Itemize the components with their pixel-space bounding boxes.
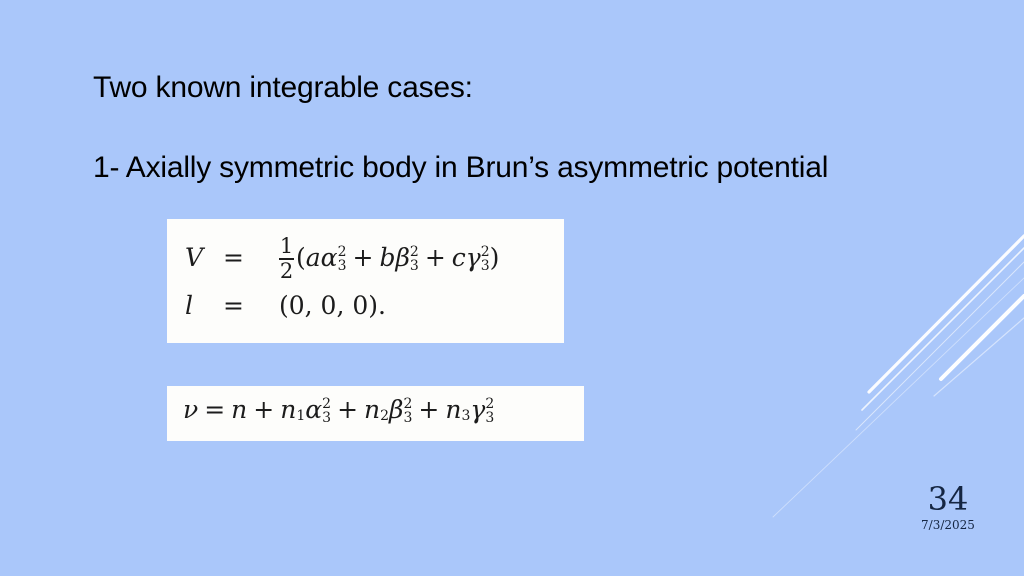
fraction-one-half: 1 2 — [279, 236, 294, 282]
variable-beta: β — [395, 243, 409, 272]
equation-row-nu: ν = n + n 1 α 2 3 + n 2 β 2 3 — [183, 395, 494, 424]
gamma-subscript-2: 3 — [485, 411, 494, 425]
alpha-subscript-2: 3 — [322, 411, 331, 425]
term-c-gamma3-squared: c γ 2 3 — [452, 243, 490, 272]
equation-lhs-l: l — [185, 291, 223, 320]
beta-sup-sub: 2 3 — [410, 245, 419, 273]
beta-superscript: 2 — [410, 245, 419, 259]
coefficient-n2-subscript: 2 — [380, 408, 389, 424]
plus-operator-nu-1: + — [247, 395, 280, 424]
gamma-sup-sub-2: 2 3 — [485, 397, 494, 425]
plus-operator-1: + — [346, 243, 379, 272]
streak-line-3 — [856, 262, 1024, 430]
plus-operator-nu-3: + — [412, 395, 445, 424]
variable-gamma-2: γ — [470, 395, 485, 424]
coefficient-a: a — [306, 243, 321, 272]
alpha-superscript-2: 2 — [322, 397, 331, 411]
integrable-case-1-label: 1- Axially symmetric body in Brun’s asym… — [93, 150, 828, 186]
gamma-superscript-2: 2 — [485, 397, 494, 411]
fraction-numerator: 1 — [280, 236, 293, 258]
streak-line-2 — [862, 248, 1024, 410]
term-b-beta3-squared: b β 2 3 — [379, 243, 418, 272]
equation-relation-l: = — [223, 291, 279, 320]
gamma-subscript: 3 — [481, 259, 490, 273]
gamma-sup-sub: 2 3 — [481, 245, 490, 273]
streak-line-6 — [934, 318, 1024, 396]
coefficient-n1-subscript: 1 — [296, 408, 305, 424]
coefficient-n1: n — [280, 395, 296, 424]
gamma-superscript: 2 — [481, 245, 490, 259]
alpha-subscript: 3 — [338, 259, 347, 273]
presentation-slide: Two known integrable cases: 1- Axially s… — [0, 0, 1024, 576]
term-n2-beta3-squared: n 2 β 2 3 — [364, 395, 412, 424]
variable-beta-2: β — [389, 395, 403, 424]
beta-sup-sub-2: 2 3 — [404, 397, 413, 425]
streak-line-1 — [869, 236, 1024, 392]
equation-lhs-nu: ν — [183, 395, 198, 424]
close-paren: ) — [490, 243, 500, 272]
fraction-denominator: 2 — [280, 260, 293, 282]
equation-rhs-V: 1 2 ( a α 2 3 + b β — [279, 235, 499, 281]
alpha-sup-sub-2: 2 3 — [322, 397, 331, 425]
equation-block-nu: ν = n + n 1 α 2 3 + n 2 β 2 3 — [167, 386, 584, 441]
term-n: n — [231, 395, 247, 424]
coefficient-c: c — [452, 243, 466, 272]
alpha-sup-sub: 2 3 — [338, 245, 347, 273]
equation-row-l: l = (0, 0, 0). — [185, 291, 386, 320]
variable-gamma: γ — [466, 243, 481, 272]
equation-block-potential: V = 1 2 ( a α 2 3 + — [167, 219, 564, 343]
beta-subscript: 3 — [410, 259, 419, 273]
open-paren: ( — [296, 243, 306, 272]
slide-number: 34 — [918, 480, 978, 518]
coefficient-n3-subscript: 3 — [461, 408, 470, 424]
beta-superscript-2: 2 — [404, 397, 413, 411]
plus-operator-2: + — [419, 243, 452, 272]
beta-subscript-2: 3 — [404, 411, 413, 425]
plus-operator-nu-2: + — [331, 395, 364, 424]
equation-relation-V: = — [223, 243, 279, 272]
equation-rhs-l-vector: (0, 0, 0). — [279, 291, 386, 320]
streak-line-4 — [773, 278, 1024, 517]
equation-lhs-V: V — [185, 243, 223, 272]
equation-relation-nu: = — [198, 395, 231, 424]
equation-row-V: V = 1 2 ( a α 2 3 + — [185, 235, 499, 281]
coefficient-b: b — [379, 243, 395, 272]
coefficient-n3: n — [445, 395, 461, 424]
variable-alpha: α — [321, 243, 338, 272]
alpha-superscript: 2 — [338, 245, 347, 259]
streak-line-5 — [941, 296, 1024, 379]
variable-alpha-2: α — [305, 395, 322, 424]
term-a-alpha3-squared: a α 2 3 — [306, 243, 347, 272]
slide-date: 7/3/2025 — [898, 518, 998, 532]
coefficient-n2: n — [364, 395, 380, 424]
term-n1-alpha3-squared: n 1 α 2 3 — [280, 395, 331, 424]
term-n3-gamma3-squared: n 3 γ 2 3 — [445, 395, 494, 424]
slide-title: Two known integrable cases: — [93, 70, 473, 106]
